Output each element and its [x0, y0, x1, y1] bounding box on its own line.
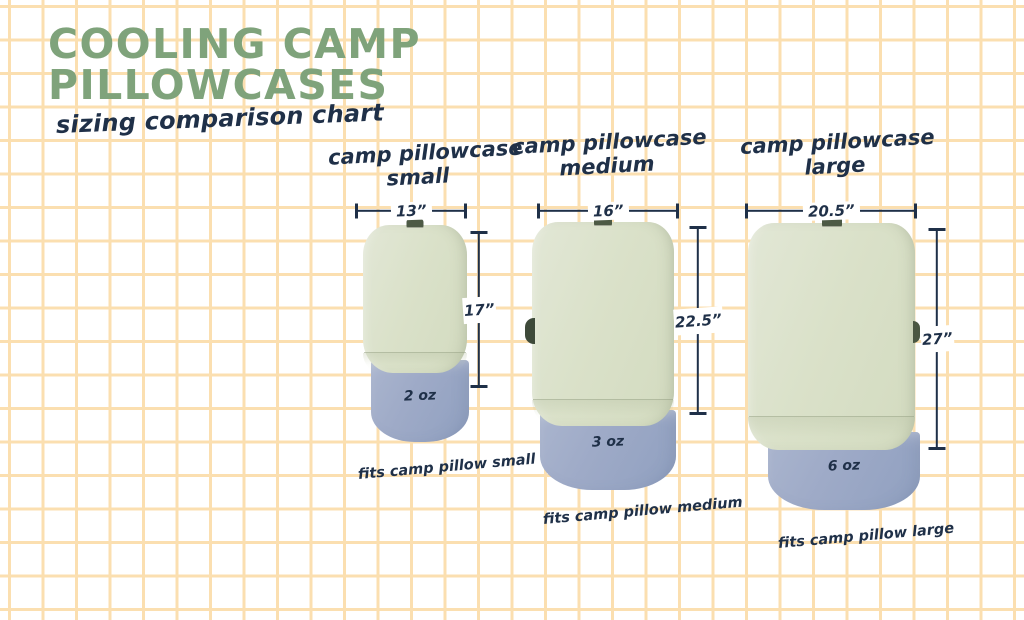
dimension-width-large: 20.5” [745, 200, 917, 222]
dimension-height-large: 27” [925, 228, 949, 450]
dimension-width-small: 13” [355, 200, 467, 222]
dimension-height-value-large: 27” [920, 325, 954, 353]
dimension-cap-bottom [929, 447, 946, 450]
hem-shade [532, 400, 674, 426]
dimension-cap-right [676, 204, 679, 219]
dimension-width-value-small: 13” [390, 201, 431, 220]
hem-shade [363, 353, 467, 373]
dimension-height-value-small: 17” [462, 295, 496, 323]
dimension-cap-left [537, 204, 540, 219]
dimension-cap-top [690, 226, 707, 229]
dimension-width-value-medium: 16” [587, 201, 628, 220]
pillowcase-large [748, 223, 915, 450]
fits-caption-large: fits camp pillow large [777, 521, 954, 552]
product-label-medium: camp pillowcase medium [512, 131, 702, 178]
page-header: COOLING CAMP PILLOWCASES sizing comparis… [48, 24, 421, 139]
infographic-canvas: COOLING CAMP PILLOWCASES sizing comparis… [0, 0, 1024, 620]
product-label-large: camp pillowcase large [740, 131, 930, 178]
page-title-line1: COOLING CAMP [48, 24, 421, 64]
dimension-width-value-large: 20.5” [802, 201, 859, 221]
pillowcase-small [363, 225, 467, 373]
pillow-weight-large: 6 oz [828, 457, 861, 474]
pillow-weight-medium: 3 oz [592, 433, 625, 450]
fits-caption-medium: fits camp pillow medium [542, 495, 743, 528]
dimension-cap-bottom [471, 385, 488, 388]
hem-shade [748, 417, 915, 450]
dimension-height-value-medium: 22.5” [673, 306, 723, 335]
pillow-weight-small: 2 oz [404, 387, 437, 404]
dimension-cap-right [914, 204, 917, 219]
dimension-cap-left [355, 204, 358, 219]
dimension-cap-left [745, 204, 748, 219]
dimension-cap-top [471, 231, 488, 234]
dimension-width-medium: 16” [537, 200, 679, 222]
pillowcase-medium [532, 222, 674, 426]
dimension-cap-bottom [690, 412, 707, 415]
side-loop-icon [913, 321, 920, 343]
product-label-small: camp pillowcase small [328, 142, 508, 189]
dimension-height-medium: 22.5” [686, 226, 710, 415]
dimension-cap-top [929, 228, 946, 231]
fits-caption-small: fits camp pillow small [357, 452, 536, 483]
dimension-cap-right [464, 204, 467, 219]
side-loop-icon [525, 318, 535, 344]
dimension-height-small: 17” [467, 231, 491, 388]
hang-tab-icon [407, 219, 424, 227]
